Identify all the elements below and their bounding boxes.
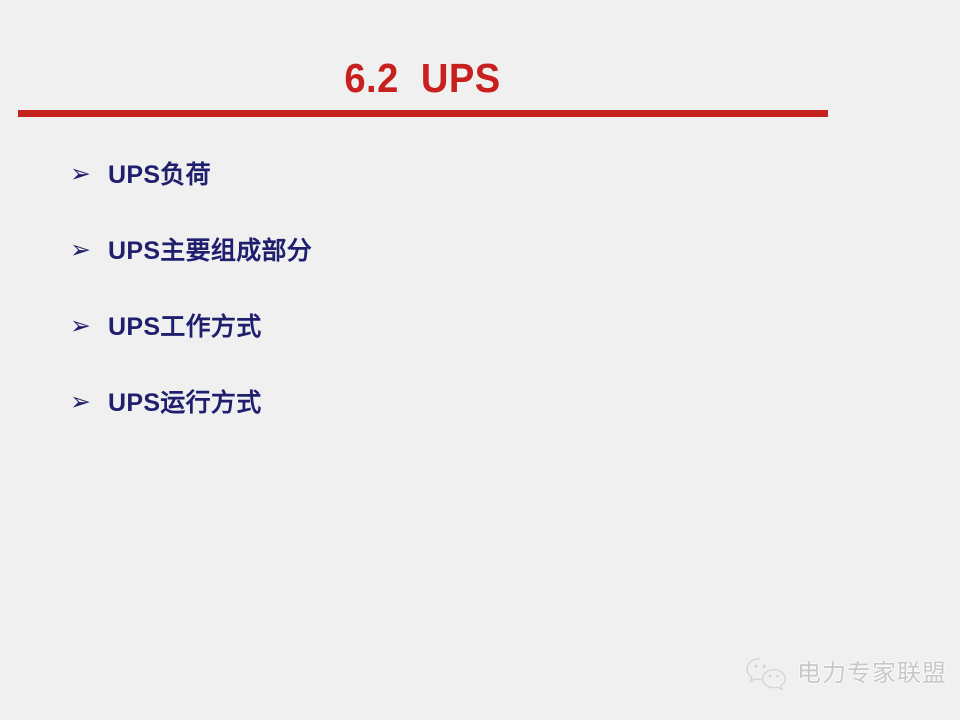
chevron-arrow-bullet-icon: ➢	[70, 159, 108, 189]
list-item: ➢ UPS运行方式	[70, 388, 850, 464]
list-item-label: UPS主要组成部分	[108, 236, 312, 266]
list-item: ➢ UPS主要组成部分	[70, 236, 850, 312]
chevron-arrow-bullet-icon: ➢	[70, 235, 108, 265]
title-underline-rule	[18, 110, 828, 117]
title-block: 6.2 UPS	[0, 52, 845, 104]
list-item: ➢ UPS工作方式	[70, 312, 850, 388]
slide-canvas: 6.2 UPS ➢ UPS负荷 ➢ UPS主要组成部分 ➢ UPS工作方式 ➢ …	[0, 0, 960, 720]
list-item-label: UPS运行方式	[108, 388, 262, 418]
list-item-label: UPS负荷	[108, 160, 211, 190]
list-item: ➢ UPS负荷	[70, 160, 850, 236]
chevron-arrow-bullet-icon: ➢	[70, 387, 108, 417]
watermark-label: 电力专家联盟	[797, 660, 947, 688]
agenda-bullet-list: ➢ UPS负荷 ➢ UPS主要组成部分 ➢ UPS工作方式 ➢ UPS运行方式	[70, 160, 850, 464]
page-title: 6.2 UPS	[30, 52, 816, 104]
watermark: 电力专家联盟	[744, 655, 947, 693]
wechat-logo-icon	[744, 655, 788, 693]
chevron-arrow-bullet-icon: ➢	[70, 311, 108, 341]
list-item-label: UPS工作方式	[108, 312, 262, 342]
